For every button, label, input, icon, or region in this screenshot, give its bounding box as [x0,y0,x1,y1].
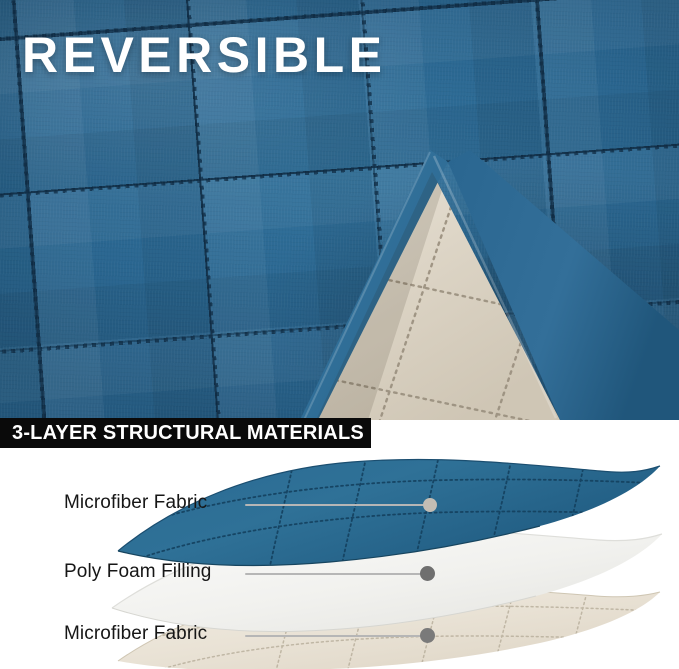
layer-marker-top [423,498,437,512]
layer-label-top: Microfiber Fabric [64,492,207,514]
product-infographic: REVERSIBLE 3-LAYER STRUCTURAL MATERIALS [0,0,679,669]
product-photo: REVERSIBLE [0,0,679,420]
section-banner: 3-LAYER STRUCTURAL MATERIALS [0,418,371,448]
leader-line-bottom [245,635,425,637]
leader-line-top [245,504,430,506]
layer-label-bottom: Microfiber Fabric [64,623,207,645]
page-title: REVERSIBLE [22,30,387,80]
layer-label-middle: Poly Foam Filling [64,561,211,583]
layer-marker-middle [420,566,435,581]
section-banner-title: 3-LAYER STRUCTURAL MATERIALS [0,422,364,445]
layer-marker-bottom [420,628,435,643]
layer-diagram: Microfiber Fabric Poly Foam Filling Micr… [0,448,679,669]
leader-line-middle [245,573,425,575]
